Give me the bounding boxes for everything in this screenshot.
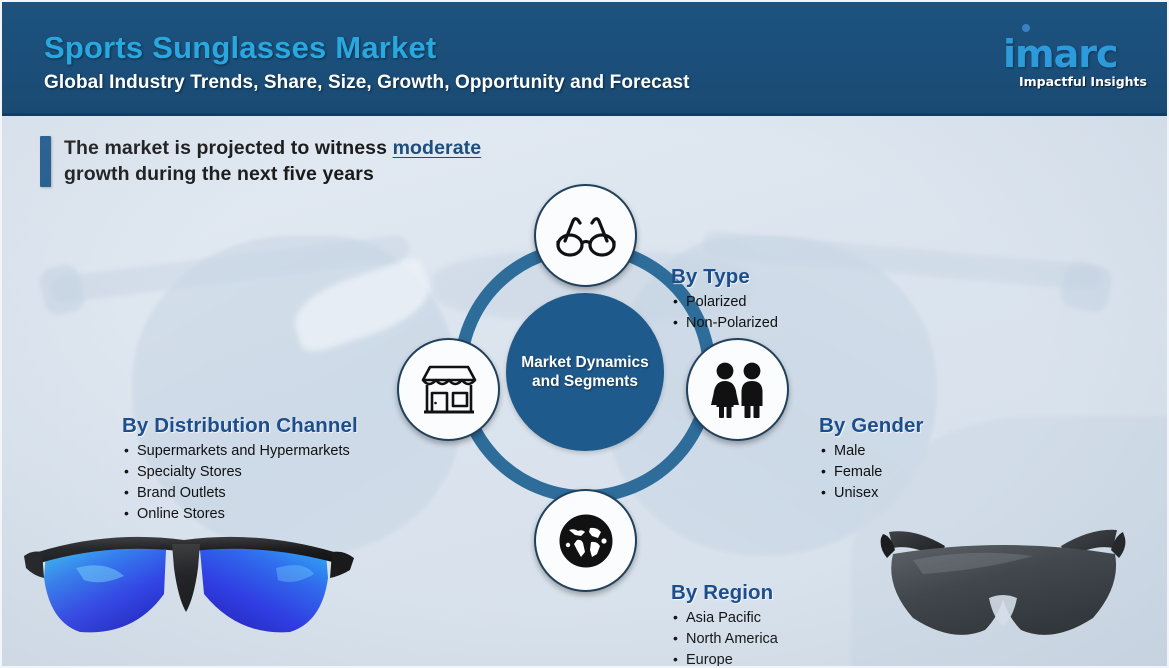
- segment-region-heading: By Region: [671, 581, 830, 605]
- watermark-tip-left-icon: [37, 262, 87, 318]
- segment-gender-list: Male Female Unisex: [819, 441, 924, 504]
- segment-gender-heading: By Gender: [819, 414, 924, 438]
- body-canvas: The market is projected to witness moder…: [2, 116, 1169, 668]
- node-distribution-channel[interactable]: [397, 338, 500, 441]
- segment-gender: By Gender Male Female Unisex: [819, 414, 924, 504]
- statement-line1-text: The market is projected to witness: [64, 137, 387, 159]
- list-item: Unisex: [819, 483, 924, 504]
- list-item: Supermarkets and Hypermarkets: [122, 441, 358, 462]
- list-item: Female: [819, 462, 924, 483]
- infographic-canvas: Sports Sunglasses Market Global Industry…: [0, 0, 1169, 668]
- header-banner: Sports Sunglasses Market Global Industry…: [2, 2, 1169, 116]
- list-item: Non-Polarized: [671, 313, 778, 334]
- watermark-temple-left-icon: [50, 234, 410, 304]
- segments-diagram: Market Dynamics and Segments: [394, 186, 804, 596]
- globe-icon: [557, 512, 615, 570]
- page-title: Sports Sunglasses Market: [44, 30, 436, 66]
- segment-type-heading: By Type: [671, 265, 778, 289]
- imarc-logo: imarc Impactful Insights: [989, 22, 1149, 96]
- hub-label-line2: and Segments: [532, 373, 638, 390]
- segment-distribution-heading: By Distribution Channel: [122, 414, 358, 438]
- product-image-dark-sunglasses: [853, 514, 1153, 664]
- page-subtitle: Global Industry Trends, Share, Size, Gro…: [44, 72, 690, 94]
- statement-text: The market is projected to witness moder…: [64, 136, 481, 187]
- storefront-icon: [419, 362, 479, 418]
- hub-label-line1: Market Dynamics: [521, 354, 649, 371]
- statement-line2-text: growth during the next five years: [64, 163, 374, 185]
- segment-distribution-channel: By Distribution Channel Supermarkets and…: [122, 414, 358, 525]
- list-item: Polarized: [671, 292, 778, 313]
- logo-dot-icon: [1022, 24, 1030, 32]
- segment-type-list: Polarized Non-Polarized: [671, 292, 778, 334]
- node-gender[interactable]: [686, 338, 789, 441]
- eyeglasses-icon: [553, 211, 619, 261]
- logo-tagline: Impactful Insights: [1019, 74, 1147, 89]
- hub-label: Market Dynamics and Segments: [513, 353, 657, 392]
- node-region[interactable]: [534, 489, 637, 592]
- watermark-tip-right-icon: [1058, 260, 1115, 315]
- market-statement: The market is projected to witness moder…: [40, 136, 481, 187]
- list-item: Brand Outlets: [122, 483, 358, 504]
- segment-distribution-list: Supermarkets and Hypermarkets Specialty …: [122, 441, 358, 525]
- list-item: North America: [671, 629, 830, 650]
- diagram-hub: Market Dynamics and Segments: [506, 293, 664, 451]
- list-item: Europe: [671, 650, 830, 668]
- list-item: Asia Pacific: [671, 608, 830, 629]
- list-item: Specialty Stores: [122, 462, 358, 483]
- statement-accent-bar: [40, 136, 51, 187]
- segment-region: By Region Asia Pacific North America Eur…: [671, 581, 830, 668]
- segment-region-list: Asia Pacific North America Europe Middle…: [671, 608, 830, 668]
- node-type[interactable]: [534, 184, 637, 287]
- product-image-blue-sunglasses: [14, 516, 374, 666]
- list-item: Male: [819, 441, 924, 462]
- statement-highlight-text: moderate: [393, 137, 482, 159]
- logo-wordmark: imarc: [1003, 32, 1118, 76]
- segment-type: By Type Polarized Non-Polarized: [671, 265, 778, 334]
- male-female-icon: [707, 361, 769, 419]
